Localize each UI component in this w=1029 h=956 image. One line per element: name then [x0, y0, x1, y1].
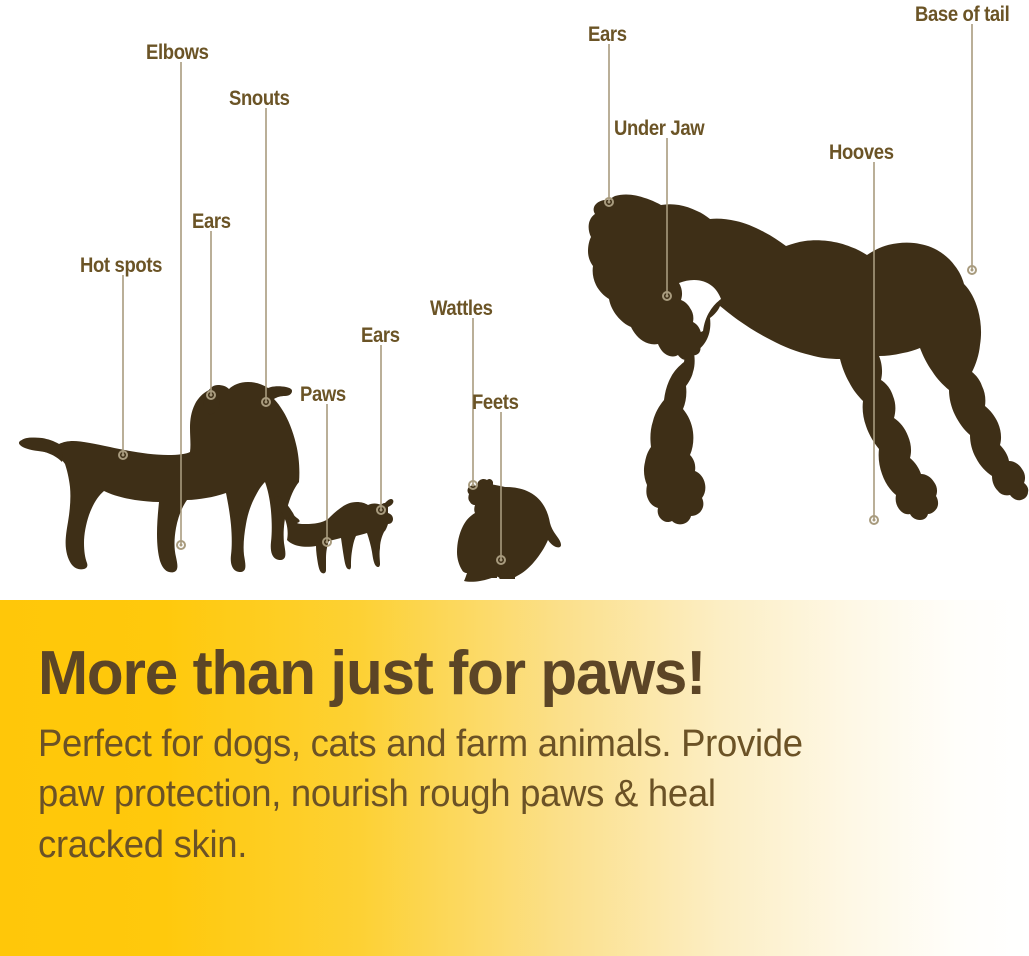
product-infographic: Hot spotsElbowsEarsSnoutsPawsEarsWattles… [0, 0, 1029, 956]
anchor-dot-horse-ears [608, 201, 611, 204]
promo-subcopy-line-1: Perfect for dogs, cats and farm animals.… [38, 719, 940, 770]
callout-label-feets: Feets [472, 392, 519, 413]
promo-subcopy-line-3: cracked skin. [38, 820, 940, 871]
chicken-silhouette [457, 479, 561, 582]
anchor-dot-hot-spots [122, 454, 125, 457]
anchor-dot-elbows [180, 544, 183, 547]
horse-silhouette [588, 195, 1028, 525]
promo-headline: More than just for paws! [38, 644, 969, 705]
anchor-dot-dog-ears [210, 394, 213, 397]
callout-label-paws: Paws [300, 384, 346, 405]
promo-subcopy: Perfect for dogs, cats and farm animals.… [38, 719, 940, 871]
callout-label-hot-spots: Hot spots [80, 255, 162, 276]
callout-label-elbows: Elbows [146, 42, 209, 63]
anchor-dot-base-of-tail [971, 269, 974, 272]
anchor-dot-wattles [472, 484, 475, 487]
anchor-dot-feets [500, 559, 503, 562]
anchor-dot-paws [326, 541, 329, 544]
promo-subcopy-line-2: paw protection, nourish rough paws & hea… [38, 769, 940, 820]
animal-diagram: Hot spotsElbowsEarsSnoutsPawsEarsWattles… [0, 0, 1029, 600]
anchor-dot-snouts [265, 401, 268, 404]
callout-label-horse-ears: Ears [588, 24, 627, 45]
cat-silhouette [275, 496, 394, 573]
promo-banner: More than just for paws! Perfect for dog… [0, 600, 1029, 956]
promo-banner-content: More than just for paws! Perfect for dog… [38, 644, 998, 870]
dog-silhouette [19, 382, 299, 572]
callout-label-snouts: Snouts [229, 88, 290, 109]
callout-label-hooves: Hooves [829, 142, 894, 163]
callout-label-dog-ears: Ears [192, 211, 231, 232]
callout-label-cat-ears: Ears [361, 325, 400, 346]
callout-label-wattles: Wattles [430, 298, 493, 319]
anchor-dot-cat-ears [380, 509, 383, 512]
anchor-dot-hooves [873, 519, 876, 522]
anchor-dot-under-jaw [666, 295, 669, 298]
animal-silhouettes-svg [0, 0, 1029, 600]
callout-label-under-jaw: Under Jaw [614, 118, 704, 139]
callout-label-base-of-tail: Base of tail [915, 4, 1009, 25]
